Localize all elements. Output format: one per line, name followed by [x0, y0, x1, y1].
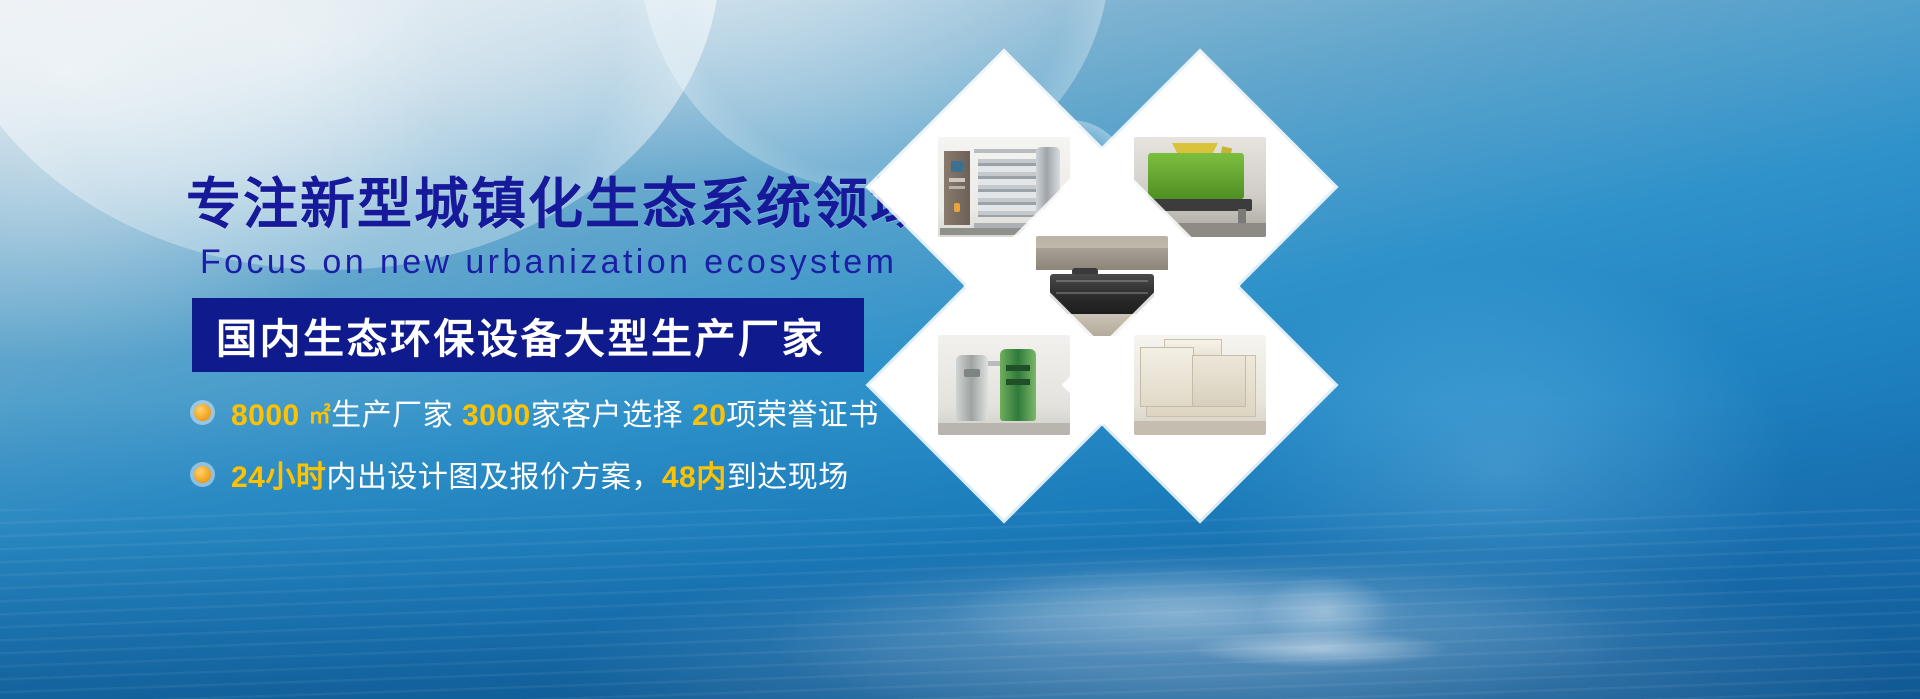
- bullet-segment: 内出设计图及报价方案，: [326, 461, 662, 494]
- bullet-segment: 家客户选择: [531, 399, 692, 432]
- bullet-dot-icon: [194, 466, 211, 483]
- bullet-item: 24小时内出设计图及报价方案，48内到达现场: [194, 452, 906, 496]
- bullet-segment: 生产厂家: [331, 399, 462, 432]
- filter-vessels-image: [938, 335, 1070, 435]
- bullet-dot-icon: [194, 404, 211, 421]
- promo-banner: 专注新型城镇化生态系统领域 Focus on new urbanization …: [0, 0, 1920, 699]
- banner-headline: 专注新型城镇化生态系统领域: [186, 176, 906, 234]
- bullet-segment: 20: [692, 399, 726, 432]
- bullet-item: 8000 ㎡生产厂家 3000家客户选择 20项荣誉证书: [194, 390, 906, 434]
- bullet-segment: 24小时: [231, 461, 326, 494]
- bullet-segment: 8000: [231, 399, 309, 432]
- bullet-segment: 3000: [462, 399, 531, 432]
- banner-ribbon-text: 国内生态环保设备大型生产厂家: [192, 305, 825, 365]
- water-splash: [1120, 553, 1540, 673]
- bullet-text: 24小时内出设计图及报价方案，48内到达现场: [231, 452, 849, 496]
- bullet-segment: 48内: [662, 461, 727, 494]
- product-diamond-grid: [905, 58, 1325, 498]
- banner-ribbon: 国内生态环保设备大型生产厂家: [192, 298, 864, 372]
- diamond-inner: [1105, 290, 1295, 480]
- bullet-segment: 到达现场: [727, 461, 849, 494]
- water-ripples: [0, 509, 1920, 699]
- bullet-segment: ㎡: [309, 403, 332, 428]
- banner-subheadline-english: Focus on new urbanization ecosystem: [200, 244, 906, 281]
- banner-copy: 专注新型城镇化生态系统领域 Focus on new urbanization …: [186, 176, 906, 496]
- aac-block-stack-image: [1134, 335, 1266, 435]
- bullet-text: 8000 ㎡生产厂家 3000家客户选择 20项荣誉证书: [231, 390, 879, 434]
- bullet-segment: 项荣誉证书: [726, 399, 879, 432]
